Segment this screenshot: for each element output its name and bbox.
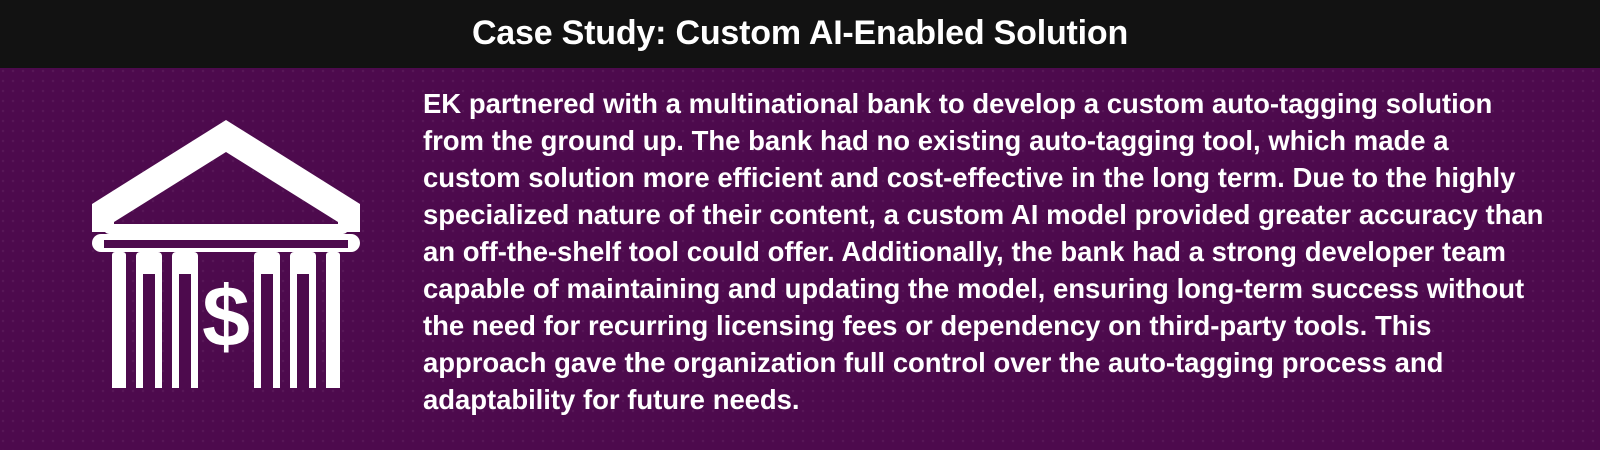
bank-building-icon: $ [88,112,364,388]
case-study-text-block: EK partnered with a multinational bank t… [423,85,1553,418]
svg-text:$: $ [202,269,250,365]
page-title: Case Study: Custom AI-Enabled Solution [472,16,1128,52]
case-study-paragraph: EK partnered with a multinational bank t… [423,85,1553,418]
case-study-card: Case Study: Custom AI-Enabled Solution [0,0,1600,450]
header-bar: Case Study: Custom AI-Enabled Solution [0,0,1600,68]
bank-icon: $ [88,112,364,388]
body-area: $ EK partnered with a multinational bank… [0,68,1600,450]
